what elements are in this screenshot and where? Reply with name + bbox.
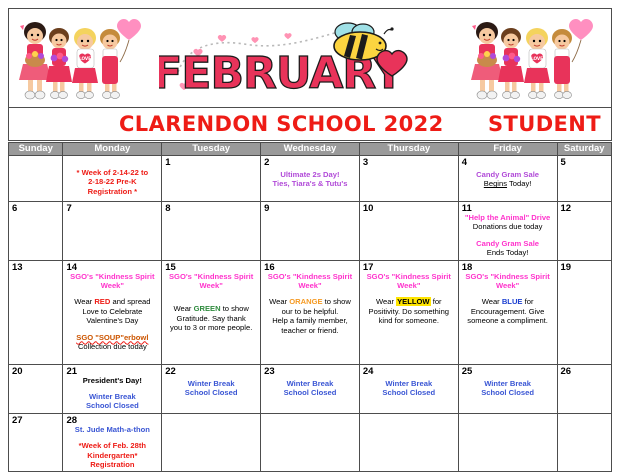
- wear-suffix: for: [431, 297, 442, 306]
- day-number: 11: [462, 203, 472, 214]
- event-wear-color-line: Wear ORANGE to show: [264, 297, 356, 306]
- day-cell-27[interactable]: 27: [9, 413, 63, 472]
- day-number: 20: [12, 366, 23, 377]
- weekday-header-tuesday: Tuesday: [162, 143, 261, 156]
- begins-underline: Begins: [484, 179, 507, 188]
- event-winter-break-line1: Winter Break: [66, 392, 158, 401]
- calendar-page: LOVE: [0, 0, 620, 451]
- day-cell-7[interactable]: 7: [63, 202, 162, 261]
- day-number: 6: [12, 203, 17, 214]
- calendar-week-row-4: 20 21 President's Day! Winter Break Scho…: [9, 364, 612, 413]
- day-cell-empty-pre: [9, 156, 63, 202]
- wear-suffix: for: [523, 297, 534, 306]
- wear-prefix: Wear: [482, 297, 502, 306]
- day-number: 22: [165, 366, 176, 377]
- event-wear-color-note-line2: Love to Celebrate: [66, 307, 158, 316]
- wear-suffix: and spread: [110, 297, 150, 306]
- day-cell-23[interactable]: 23 Winter Break School Closed: [261, 364, 360, 413]
- day-cell-5[interactable]: 5: [557, 156, 612, 202]
- day-cell-jan31-monday[interactable]: * Week of 2-14-22 to 2-18-22 Pre-K Regis…: [63, 156, 162, 202]
- day-number: 9: [264, 203, 269, 214]
- wear-prefix: Wear: [74, 297, 94, 306]
- event-kindness-spirit-week-line2: Week": [363, 281, 455, 290]
- day-number: 14: [66, 262, 77, 273]
- event-winter-break-line2: School Closed: [264, 388, 356, 397]
- day-number: 18: [462, 262, 473, 273]
- event-wear-color-note-line2: Encouragement. Give: [462, 307, 554, 316]
- page-title: CLARENDON SCHOOL 2022: [119, 112, 444, 136]
- day-cell-20[interactable]: 20: [9, 364, 63, 413]
- day-cell-empty-post-2: [261, 413, 360, 472]
- event-kindergarten-registration-line3: Registration: [66, 460, 158, 469]
- day-number: 5: [561, 157, 566, 168]
- kids-with-hearts-clipart-left: LOVE: [9, 10, 159, 106]
- event-wear-color-line: Wear BLUE for: [462, 297, 554, 306]
- calendar-title-strip: CLARENDON SCHOOL 2022 STUDENT: [8, 108, 612, 141]
- svg-text:LOVE: LOVE: [531, 56, 543, 61]
- event-winter-break-line1: Winter Break: [363, 379, 455, 388]
- event-candy-gram-sale-ends: Ends Today!: [462, 248, 554, 257]
- day-cell-1[interactable]: 1: [162, 156, 261, 202]
- event-wear-color-line: Wear YELLOW for: [363, 297, 455, 306]
- day-cell-10[interactable]: 10: [359, 202, 458, 261]
- day-cell-24[interactable]: 24 Winter Break School Closed: [359, 364, 458, 413]
- kids-with-hearts-clipart-right: LOVE: [461, 10, 611, 106]
- event-wear-color-note-line2: Positivity. Do something: [363, 307, 455, 316]
- event-help-the-animal-drive-note: Donations due today: [462, 222, 554, 231]
- wear-color-word: YELLOW: [396, 297, 430, 306]
- event-ultimate-2s-day-line2: Ties, Tiara's & Tutu's: [264, 179, 356, 188]
- day-number: 1: [165, 157, 170, 168]
- day-cell-3[interactable]: 3: [359, 156, 458, 202]
- day-cell-empty-post-1: [162, 413, 261, 472]
- event-wear-color-note-line3: someone a compliment.: [462, 316, 554, 325]
- day-number: 25: [462, 366, 473, 377]
- day-number: 16: [264, 262, 275, 273]
- event-winter-break-line1: Winter Break: [462, 379, 554, 388]
- event-souperbowl-title: SGO "SOUP"erbowl: [66, 333, 158, 342]
- event-wear-color-note-line3: Help a family member,: [264, 316, 356, 325]
- event-st-jude-math-a-thon: St. Jude Math-a-thon: [66, 425, 158, 434]
- day-number: 28: [66, 415, 77, 426]
- event-ultimate-2s-day-line1: Ultimate 2s Day!: [264, 170, 356, 179]
- day-number: 13: [12, 262, 23, 273]
- wear-suffix: to show: [323, 297, 351, 306]
- day-number: 4: [462, 157, 467, 168]
- day-number: 17: [363, 262, 374, 273]
- day-number: 24: [363, 366, 374, 377]
- day-cell-18[interactable]: 18 SGO's "Kindness Spirit Week" Wear BLU…: [458, 260, 557, 364]
- day-cell-26[interactable]: 26: [557, 364, 612, 413]
- event-kindness-spirit-week-line2: Week": [66, 281, 158, 290]
- day-cell-empty-post-3: [359, 413, 458, 472]
- event-candy-gram-sale-begins: Begins Today!: [462, 179, 554, 188]
- begins-today-text: Today!: [507, 179, 531, 188]
- day-number: 23: [264, 366, 275, 377]
- header-clipart-banner: LOVE: [8, 8, 612, 108]
- day-number: 10: [363, 203, 374, 214]
- event-candy-gram-sale-title: Candy Gram Sale: [462, 170, 554, 179]
- day-number: 12: [561, 203, 572, 214]
- day-cell-empty-post-5: [557, 413, 612, 472]
- event-winter-break-line2: School Closed: [165, 388, 257, 397]
- february-wordart-with-bee-clipart: FEBRUARY: [159, 10, 461, 106]
- day-number: 19: [561, 262, 572, 273]
- day-cell-15[interactable]: 15 SGO's "Kindness Spirit Week" Wear GRE…: [162, 260, 261, 364]
- event-winter-break-line2: School Closed: [363, 388, 455, 397]
- day-cell-9[interactable]: 9: [261, 202, 360, 261]
- event-prek-registration-line1: * Week of 2-14-22 to: [66, 168, 158, 177]
- svg-text:LOVE: LOVE: [79, 56, 91, 61]
- event-souperbowl-note: Collection due today: [66, 342, 158, 351]
- calendar-week-row-2: 6 7 8 9 10 11 "Help the Animal" Drive: [9, 202, 612, 261]
- day-cell-22[interactable]: 22 Winter Break School Closed: [162, 364, 261, 413]
- event-wear-color-line: Wear RED and spread: [66, 297, 158, 306]
- weekday-header-wednesday: Wednesday: [261, 143, 360, 156]
- weekday-header-monday: Monday: [63, 143, 162, 156]
- day-cell-21[interactable]: 21 President's Day! Winter Break School …: [63, 364, 162, 413]
- weekday-header-thursday: Thursday: [359, 143, 458, 156]
- event-winter-break-line1: Winter Break: [165, 379, 257, 388]
- event-wear-color-note-line4: teacher or friend.: [264, 326, 356, 335]
- weekday-header-saturday: Saturday: [557, 143, 612, 156]
- event-kindergarten-registration-line1: *Week of Feb. 28th: [66, 441, 158, 450]
- event-winter-break-line2: School Closed: [66, 401, 158, 410]
- wear-suffix: to show: [221, 304, 249, 313]
- weekday-header-sunday: Sunday: [9, 143, 63, 156]
- event-winter-break-line2: School Closed: [462, 388, 554, 397]
- event-help-the-animal-drive-title: "Help the Animal" Drive: [462, 213, 554, 222]
- page-title-audience: STUDENT: [488, 112, 601, 136]
- event-kindness-spirit-week-line1: SGO's "Kindness Spirit: [363, 272, 455, 281]
- wear-prefix: Wear: [269, 297, 289, 306]
- event-prek-registration-line3: Registration *: [66, 187, 158, 196]
- event-kindness-spirit-week-line1: SGO's "Kindness Spirit: [165, 272, 257, 281]
- calendar-week-row-5: 27 28 St. Jude Math-a-thon *Week of Feb.…: [9, 413, 612, 472]
- day-cell-8[interactable]: 8: [162, 202, 261, 261]
- day-cell-11[interactable]: 11 "Help the Animal" Drive Donations due…: [458, 202, 557, 261]
- day-cell-2[interactable]: 2 Ultimate 2s Day! Ties, Tiara's & Tutu'…: [261, 156, 360, 202]
- wear-color-word: RED: [94, 297, 110, 306]
- event-presidents-day: President's Day!: [66, 376, 158, 385]
- event-prek-registration-line2: 2-18-22 Pre-K: [66, 177, 158, 186]
- day-cell-16[interactable]: 16 SGO's "Kindness Spirit Week" Wear ORA…: [261, 260, 360, 364]
- day-cell-14[interactable]: 14 SGO's "Kindness Spirit Week" Wear RED…: [63, 260, 162, 364]
- event-kindergarten-registration-line2: Kindergarten*: [66, 451, 158, 460]
- day-number: 2: [264, 157, 269, 168]
- day-number: 27: [12, 415, 23, 426]
- event-kindness-spirit-week-line2: Week": [165, 281, 257, 290]
- day-number: 7: [66, 203, 71, 214]
- event-kindness-spirit-week-line2: Week": [462, 281, 554, 290]
- event-winter-break-line1: Winter Break: [264, 379, 356, 388]
- day-cell-28[interactable]: 28 St. Jude Math-a-thon *Week of Feb. 28…: [63, 413, 162, 472]
- weekday-header-row: Sunday Monday Tuesday Wednesday Thursday…: [9, 143, 612, 156]
- day-number: 21: [66, 366, 77, 377]
- event-wear-color-note-line2: our to be helpful.: [264, 307, 356, 316]
- calendar-week-row-3: 13 14 SGO's "Kindness Spirit Week" Wear …: [9, 260, 612, 364]
- event-wear-color-note-line3: you to 3 or more people.: [165, 323, 257, 332]
- event-wear-color-note-line3: Valentine's Day: [66, 316, 158, 325]
- event-wear-color-note-line3: kind for someone.: [363, 316, 455, 325]
- wear-color-word: GREEN: [194, 304, 221, 313]
- day-cell-13[interactable]: 13: [9, 260, 63, 364]
- day-cell-4[interactable]: 4 Candy Gram Sale Begins Today!: [458, 156, 557, 202]
- wear-prefix: Wear: [173, 304, 193, 313]
- calendar-week-row-1: * Week of 2-14-22 to 2-18-22 Pre-K Regis…: [9, 156, 612, 202]
- day-number: 8: [165, 203, 170, 214]
- day-cell-empty-post-4: [458, 413, 557, 472]
- calendar-grid: Sunday Monday Tuesday Wednesday Thursday…: [8, 142, 612, 472]
- day-number: 3: [363, 157, 368, 168]
- event-kindness-spirit-week-line2: Week": [264, 281, 356, 290]
- wear-color-word: ORANGE: [289, 297, 322, 306]
- day-cell-6[interactable]: 6: [9, 202, 63, 261]
- day-cell-12[interactable]: 12: [557, 202, 612, 261]
- event-wear-color-line: Wear GREEN to show: [165, 304, 257, 313]
- weekday-header-friday: Friday: [458, 143, 557, 156]
- day-number: 15: [165, 262, 176, 273]
- event-kindness-spirit-week-line1: SGO's "Kindness Spirit: [66, 272, 158, 281]
- day-cell-25[interactable]: 25 Winter Break School Closed: [458, 364, 557, 413]
- day-cell-17[interactable]: 17 SGO's "Kindness Spirit Week" Wear YEL…: [359, 260, 458, 364]
- event-kindness-spirit-week-line1: SGO's "Kindness Spirit: [462, 272, 554, 281]
- wear-prefix: Wear: [376, 297, 396, 306]
- day-number: 26: [561, 366, 572, 377]
- day-cell-19[interactable]: 19: [557, 260, 612, 364]
- event-kindness-spirit-week-line1: SGO's "Kindness Spirit: [264, 272, 356, 281]
- event-wear-color-note-line2: Gratitude. Say thank: [165, 314, 257, 323]
- event-candy-gram-sale-title: Candy Gram Sale: [462, 239, 554, 248]
- wear-color-word: BLUE: [502, 297, 523, 306]
